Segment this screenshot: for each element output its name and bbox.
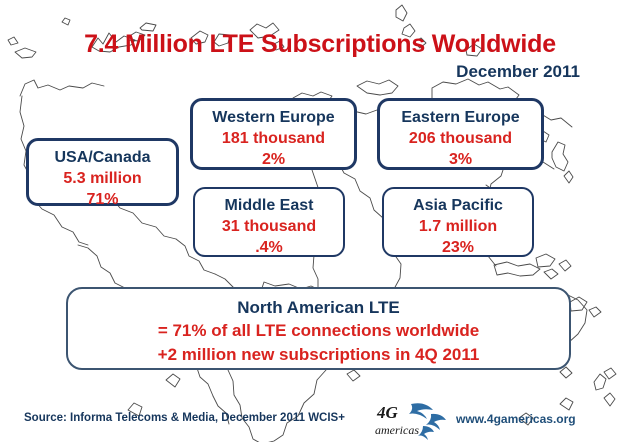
callout-region-share: 71%: [29, 189, 176, 210]
4g-americas-logo: 4G americas: [375, 398, 451, 440]
website-url: www.4gamericas.org: [456, 412, 576, 426]
svg-text:americas: americas: [375, 423, 419, 437]
summary-line-one: = 71% of all LTE connections worldwide: [68, 319, 569, 343]
callout-region-share: 3%: [380, 149, 541, 170]
summary-callout-north-american-lte: North American LTE = 71% of all LTE conn…: [66, 287, 571, 370]
report-date: December 2011: [456, 62, 580, 82]
callout-region-value: 181 thousand: [193, 128, 354, 149]
callout-eastern-europe: Eastern Europe 206 thousand 3%: [377, 98, 544, 170]
callout-region-value: 1.7 million: [384, 216, 532, 237]
callout-region-value: 5.3 million: [29, 168, 176, 189]
callout-region-name: USA/Canada: [29, 147, 176, 168]
callout-western-europe: Western Europe 181 thousand 2%: [190, 98, 357, 170]
callout-region-share: 2%: [193, 149, 354, 170]
source-citation: Source: Informa Telecoms & Media, Decemb…: [24, 412, 345, 424]
page-title: 7.4 Million LTE Subscriptions Worldwide: [0, 30, 640, 59]
callout-region-value: 206 thousand: [380, 128, 541, 149]
callout-usa-canada: USA/Canada 5.3 million 71%: [26, 138, 179, 206]
svg-text:4G: 4G: [376, 403, 399, 422]
lte-subscriptions-infographic: 7.4 Million LTE Subscriptions Worldwide …: [0, 0, 640, 442]
summary-heading: North American LTE: [68, 296, 569, 319]
callout-region-name: Eastern Europe: [380, 107, 541, 128]
callout-region-name: Middle East: [195, 195, 343, 216]
callout-region-name: Asia Pacific: [384, 195, 532, 216]
callout-region-share: .4%: [195, 237, 343, 258]
callout-region-name: Western Europe: [193, 107, 354, 128]
callout-asia-pacific: Asia Pacific 1.7 million 23%: [382, 187, 534, 257]
callout-region-share: 23%: [384, 237, 532, 258]
summary-line-two: +2 million new subscriptions in 4Q 2011: [68, 343, 569, 367]
callout-middle-east: Middle East 31 thousand .4%: [193, 187, 345, 257]
callout-region-value: 31 thousand: [195, 216, 343, 237]
